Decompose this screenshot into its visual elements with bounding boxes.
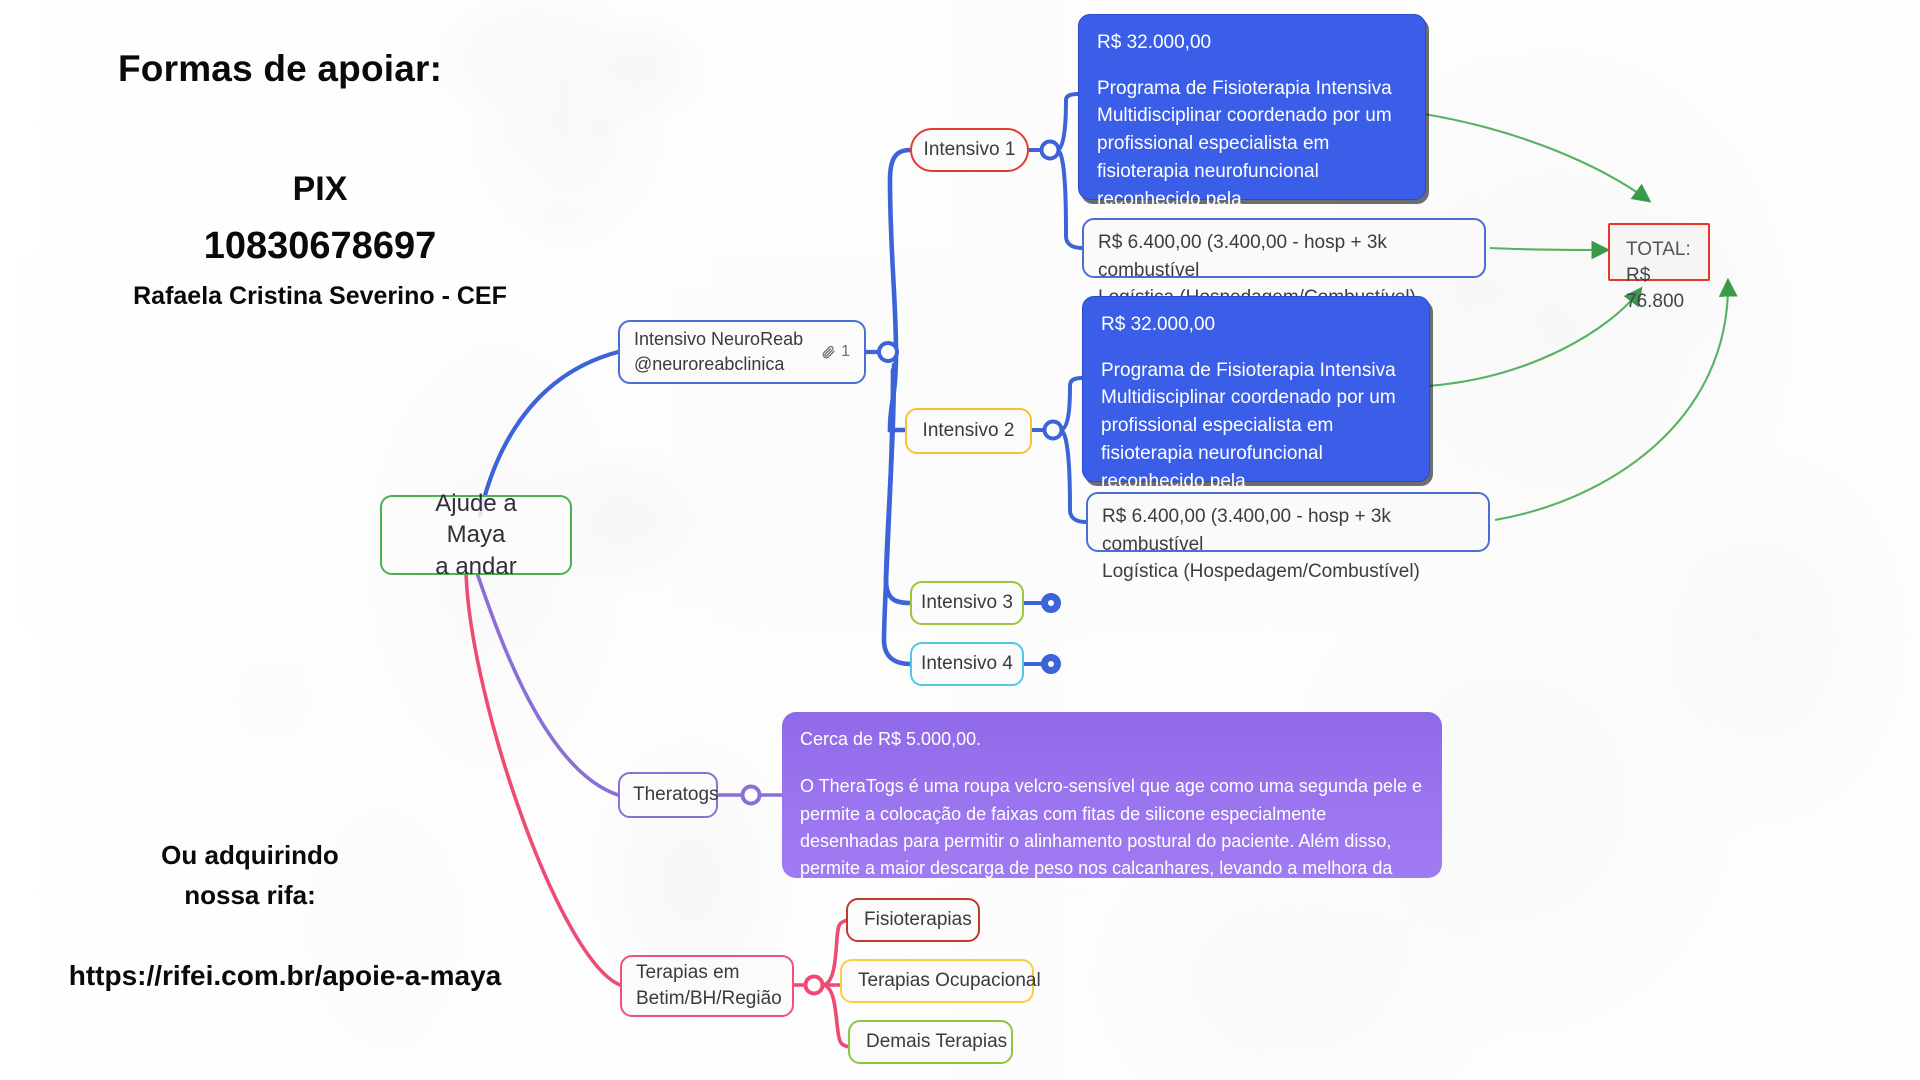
edge-int2-card1	[1060, 378, 1082, 430]
pix-key[interactable]: 10830678697	[0, 225, 640, 268]
center-node-line1: Ajude a Maya	[406, 488, 546, 550]
edge-center-theratogs	[476, 570, 618, 795]
terapias-line2: Betim/BH/Região	[636, 986, 782, 1012]
collapsed-knob-int3-dot	[1048, 600, 1054, 606]
detail-card-intensivo1-program: R$ 32.000,00 Programa de Fisioterapia In…	[1078, 14, 1426, 200]
attachment-count: 1	[841, 341, 850, 363]
detail-description-1: Programa de Fisioterapia Intensiva Multi…	[1097, 75, 1407, 241]
detail-amount-4: R$ 6.400,00 (3.400,00 - hosp + 3k combus…	[1102, 503, 1474, 558]
branch-node-theratogs[interactable]: Theratogs	[618, 772, 718, 818]
node-intensivo-4[interactable]: Intensivo 4	[910, 642, 1024, 686]
promo-heading: Formas de apoiar:	[118, 48, 442, 90]
hub-knob-neuroreab[interactable]	[879, 343, 897, 361]
arrow-card1-to-total	[1424, 114, 1648, 200]
detail-card-intensivo2-logistics: R$ 6.400,00 (3.400,00 - hosp + 3k combus…	[1086, 492, 1490, 552]
rifa-line-1: Ou adquirindo	[0, 840, 500, 871]
node-demais-terapias[interactable]: Demais Terapias	[848, 1020, 1013, 1064]
node-intensivo-1[interactable]: Intensivo 1	[910, 128, 1029, 172]
total-box: TOTAL: R$ 76.800	[1608, 223, 1710, 281]
node-intensivo-3[interactable]: Intensivo 3	[910, 581, 1024, 625]
hub-knob-int2[interactable]	[1045, 422, 1062, 439]
terapias-text: Terapias em Betim/BH/Região	[636, 960, 782, 1012]
detail-card-theratogs: Cerca de R$ 5.000,00. O TheraTogs é uma …	[782, 712, 1442, 878]
center-node[interactable]: Ajude a Maya a andar	[380, 495, 572, 575]
terapias-ocupacional-label: Terapias Ocupacional	[858, 968, 1041, 994]
node-intensivo-2[interactable]: Intensivo 2	[905, 408, 1032, 454]
attachment-indicator[interactable]: 1	[821, 341, 850, 363]
node-terapias-ocupacional[interactable]: Terapias Ocupacional	[840, 959, 1034, 1003]
neuroreab-subtitle: @neuroreabclinica	[634, 352, 803, 377]
theratogs-description: O TheraTogs é uma roupa velcro-sensível …	[800, 773, 1424, 910]
edge-center-terapias	[466, 572, 620, 985]
pix-owner-name: Rafaela Cristina Severino - CEF	[0, 282, 640, 311]
node-intensivo-1-label: Intensivo 1	[924, 137, 1016, 163]
detail-amount-2: R$ 6.400,00 (3.400,00 - hosp + 3k combus…	[1098, 229, 1470, 284]
neuroreab-text: Intensivo NeuroReab @neuroreabclinica	[634, 327, 803, 377]
total-value: R$ 76.800	[1626, 263, 1692, 315]
branch-node-neuroreab[interactable]: Intensivo NeuroReab @neuroreabclinica 1	[618, 320, 866, 384]
node-intensivo-2-label: Intensivo 2	[923, 418, 1015, 444]
paperclip-icon	[821, 344, 836, 359]
fisioterapias-label: Fisioterapias	[864, 907, 972, 933]
theratogs-amount: Cerca de R$ 5.000,00.	[800, 726, 1424, 753]
rifa-url-link[interactable]: https://rifei.com.br/apoie-a-maya	[0, 960, 570, 992]
branch-node-terapias[interactable]: Terapias em Betim/BH/Região	[620, 955, 794, 1017]
node-fisioterapias[interactable]: Fisioterapias	[846, 898, 980, 942]
detail-amount-3: R$ 32.000,00	[1101, 311, 1411, 339]
detail-description-4: Logística (Hospedagem/Combustível)	[1102, 558, 1474, 586]
hub-knob-int1[interactable]	[1042, 142, 1059, 159]
terapias-line1: Terapias em	[636, 960, 782, 986]
node-intensivo-3-label: Intensivo 3	[921, 590, 1013, 616]
collapsed-knob-int4-dot	[1048, 661, 1054, 667]
mindmap-canvas: Formas de apoiar: PIX 10830678697 Rafael…	[0, 0, 1920, 1080]
hub-knob-terapias[interactable]	[806, 977, 823, 994]
node-intensivo-4-label: Intensivo 4	[921, 651, 1013, 677]
pix-label: PIX	[0, 170, 640, 209]
total-label: TOTAL:	[1626, 237, 1692, 263]
hub-knob-theratogs[interactable]	[743, 787, 760, 804]
arrow-card2-to-total	[1490, 248, 1606, 250]
detail-card-intensivo1-logistics: R$ 6.400,00 (3.400,00 - hosp + 3k combus…	[1082, 218, 1486, 278]
demais-terapias-label: Demais Terapias	[866, 1029, 1007, 1055]
detail-card-intensivo2-program: R$ 32.000,00 Programa de Fisioterapia In…	[1082, 296, 1430, 482]
theratogs-label: Theratogs	[633, 782, 719, 808]
edge-trunk	[890, 150, 910, 352]
edge-int1-card1	[1057, 94, 1078, 150]
center-node-line2: a andar	[435, 551, 516, 582]
rifa-line-2: nossa rifa:	[0, 880, 500, 911]
detail-amount-1: R$ 32.000,00	[1097, 29, 1407, 57]
neuroreab-title: Intensivo NeuroReab	[634, 327, 803, 352]
